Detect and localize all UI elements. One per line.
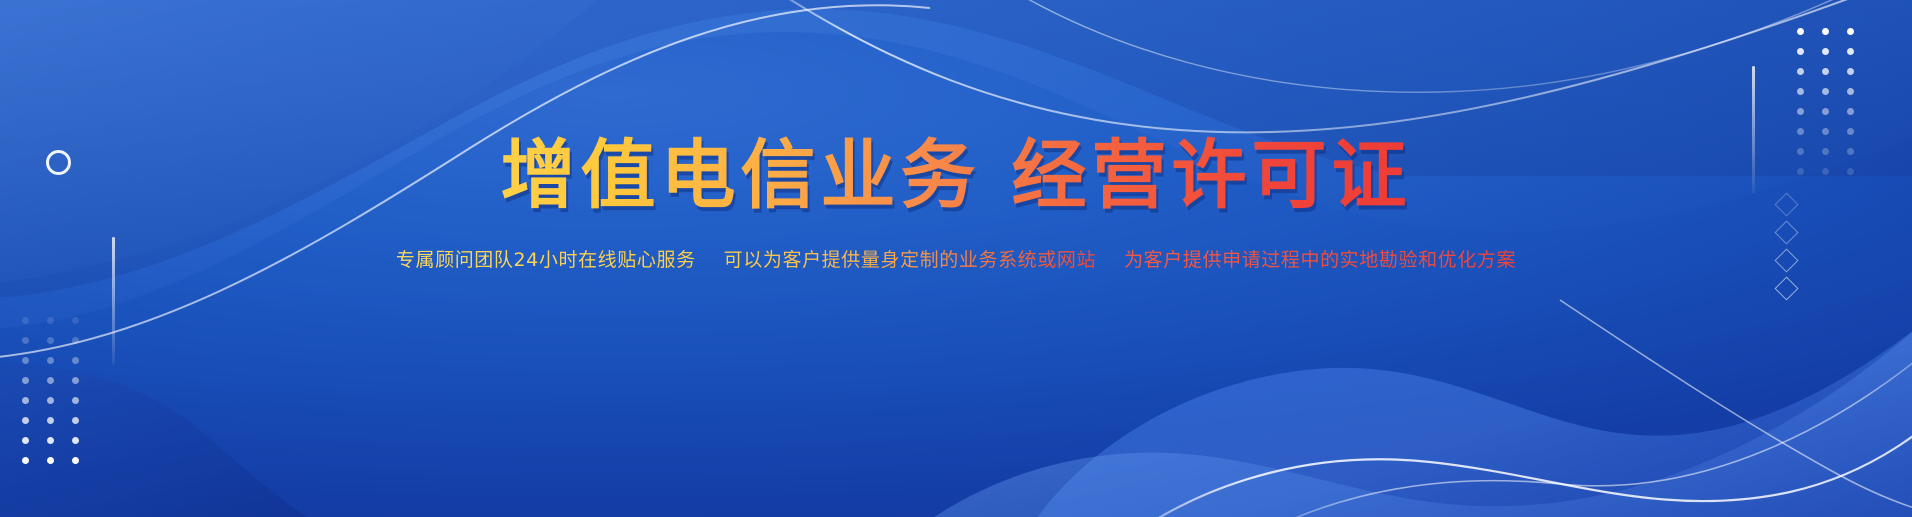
banner-subtitle-row: 专属顾问团队24小时在线贴心服务 可以为客户提供量身定制的业务系统或网站 为客户… <box>396 245 1516 272</box>
banner-subtitle-item: 为客户提供申请过程中的实地勘验和优化方案 <box>1124 245 1516 272</box>
promo-banner: 增值电信业务 经营许可证 专属顾问团队24小时在线贴心服务 可以为客户提供量身定… <box>0 0 1912 517</box>
banner-content: 增值电信业务 经营许可证 专属顾问团队24小时在线贴心服务 可以为客户提供量身定… <box>0 0 1912 517</box>
banner-subtitle-item: 专属顾问团队24小时在线贴心服务 <box>396 245 696 272</box>
banner-subtitle-item: 可以为客户提供量身定制的业务系统或网站 <box>724 245 1096 272</box>
banner-title: 增值电信业务 经营许可证 <box>500 0 1411 216</box>
